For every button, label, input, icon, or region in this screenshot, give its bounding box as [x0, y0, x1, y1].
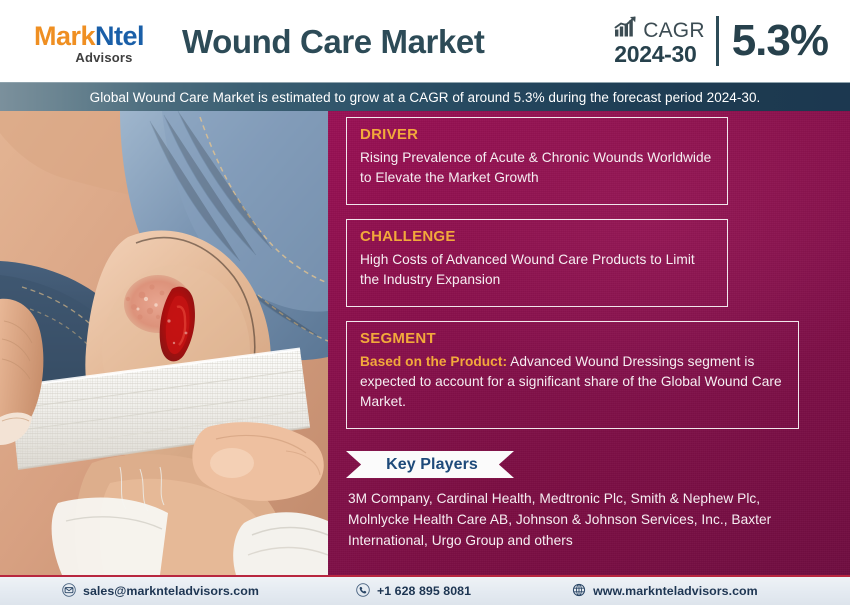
footer-phone-text: +1 628 895 8081 — [377, 584, 471, 598]
challenge-heading: CHALLENGE — [360, 228, 714, 247]
cagr-label: CAGR — [643, 20, 704, 41]
header: MarkNtel Advisors Wound Care Market — [0, 0, 850, 82]
segment-heading: SEGMENT — [360, 330, 785, 349]
key-players-ribbon: Key Players — [346, 451, 514, 478]
driver-heading: DRIVER — [360, 126, 714, 145]
envelope-icon — [62, 583, 76, 600]
challenge-body: High Costs of Advanced Wound Care Produc… — [360, 250, 714, 291]
footer-email[interactable]: sales@marknteladvisors.com — [62, 583, 259, 600]
footer-website[interactable]: www.marknteladvisors.com — [572, 583, 758, 600]
driver-body: Rising Prevalence of Acute & Chronic Wou… — [360, 148, 714, 189]
footer-email-text: sales@marknteladvisors.com — [83, 584, 259, 598]
logo-wordmark: MarkNtel — [34, 23, 144, 50]
globe-icon — [572, 583, 586, 600]
segment-body: Based on the Product: Advanced Wound Dre… — [360, 352, 785, 413]
footer-website-text: www.marknteladvisors.com — [593, 584, 758, 598]
body-area: DRIVER Rising Prevalence of Acute & Chro… — [0, 111, 850, 575]
driver-box: DRIVER Rising Prevalence of Acute & Chro… — [346, 117, 728, 205]
content-panel: DRIVER Rising Prevalence of Acute & Chro… — [328, 111, 850, 575]
challenge-box: CHALLENGE High Costs of Advanced Wound C… — [346, 219, 728, 307]
page-title: Wound Care Market — [182, 25, 484, 58]
cagr-block: CAGR 2024-30 5.3% — [614, 0, 850, 82]
footer: sales@marknteladvisors.com +1 628 895 80… — [0, 575, 850, 605]
cagr-value: 5.3% — [732, 19, 828, 63]
knee-wound-bandage-photo — [0, 111, 328, 575]
subtitle-text: Global Wound Care Market is estimated to… — [90, 90, 761, 105]
company-logo[interactable]: MarkNtel Advisors — [0, 0, 178, 82]
phone-icon — [356, 583, 370, 600]
footer-phone[interactable]: +1 628 895 8081 — [356, 583, 471, 600]
cagr-label-group: CAGR 2024-30 — [614, 16, 715, 66]
key-players-label: Key Players — [382, 457, 478, 473]
cagr-divider — [716, 16, 719, 66]
segment-box: SEGMENT Based on the Product: Advanced W… — [346, 321, 799, 429]
logo-text-ntel: Ntel — [95, 21, 144, 51]
title-container: Wound Care Market — [178, 25, 614, 58]
bar-chart-growth-icon — [614, 16, 639, 41]
subtitle-bar: Global Wound Care Market is estimated to… — [0, 82, 850, 111]
infographic-page: MarkNtel Advisors Wound Care Market — [0, 0, 850, 605]
segment-body-highlight: Based on the Product: — [360, 354, 507, 369]
cagr-label-row: CAGR — [614, 16, 704, 41]
key-players-list: 3M Company, Cardinal Health, Medtronic P… — [348, 489, 810, 551]
cagr-years: 2024-30 — [614, 43, 696, 66]
logo-subtitle: Advisors — [75, 51, 132, 64]
logo-text-mark: Mark — [34, 21, 95, 51]
